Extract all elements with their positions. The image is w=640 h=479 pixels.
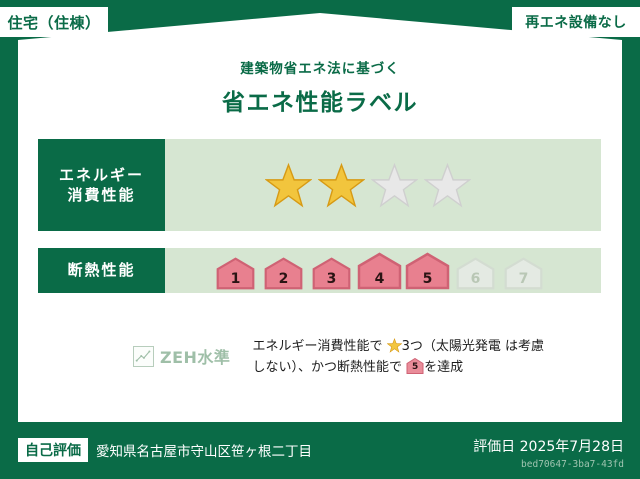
zeh-chart-icon	[133, 346, 154, 367]
insulation-grade-value: 5	[405, 271, 450, 287]
house-empty-icon: 6	[453, 257, 498, 290]
label-title-main: 省エネ性能ラベル	[0, 83, 640, 117]
row-insulation-performance: 断熱性能 1234567	[38, 248, 601, 293]
house-filled-icon: 1	[213, 257, 258, 290]
label-title: 建築物省エネ法に基づく 省エネ性能ラベル	[0, 57, 640, 117]
badge-building-type: 住宅（住棟）	[0, 7, 108, 37]
zeh-desc-line1-b: 3つ（太陽光発電	[402, 339, 501, 354]
row-energy-performance-value	[165, 139, 601, 231]
evaluation-date: 評価日 2025年7月28日	[473, 436, 624, 456]
badge-building-type-label: 住宅（住棟）	[7, 12, 100, 33]
zeh-mark: ZEH水準	[38, 336, 230, 368]
label-title-subtitle: 建築物省エネ法に基づく	[0, 57, 640, 77]
zeh-desc-line1-a: エネルギー消費性能で	[252, 339, 382, 354]
zeh-description: エネルギー消費性能で 3つ（太陽光発電 は考慮しない）、かつ断熱性能で 5 を達…	[252, 336, 552, 379]
footer-left: 自己評価 愛知県名古屋市守山区笹ヶ根二丁目	[18, 438, 312, 462]
zeh-note: ZEH水準 エネルギー消費性能で 3つ（太陽光発電 は考慮しない）、かつ断熱性能…	[38, 336, 601, 379]
insulation-grade-value: 6	[453, 271, 498, 287]
house-filled-icon: 3	[309, 257, 354, 290]
row-energy-performance: エネルギー 消費性能	[38, 139, 601, 231]
row-energy-label-line2: 消費性能	[67, 185, 135, 205]
star-empty-icon	[371, 162, 418, 209]
house-empty-icon: 7	[501, 257, 546, 290]
house-inline-value: 5	[406, 360, 424, 375]
row-energy-label-line1: エネルギー	[59, 165, 144, 185]
star-filled-icon	[318, 162, 365, 209]
star-empty-icon	[424, 162, 471, 209]
badge-renewable-energy: 再エネ設備なし	[512, 7, 640, 37]
self-evaluation-badge: 自己評価	[18, 438, 88, 462]
badge-renewable-energy-label: 再エネ設備なし	[525, 12, 627, 32]
house-filled-icon: 5	[405, 252, 450, 290]
star-filled-icon	[265, 162, 312, 209]
row-insulation-label-line1: 断熱性能	[67, 260, 135, 280]
insulation-grade-value: 3	[309, 271, 354, 287]
house-filled-icon: 4	[357, 252, 402, 290]
row-insulation-performance-label: 断熱性能	[38, 248, 165, 293]
star-rating	[165, 162, 471, 209]
house-filled-icon: 2	[261, 257, 306, 290]
energy-performance-label: 住宅（住棟） 再エネ設備なし 建築物省エネ法に基づく 省エネ性能ラベル エネルギ…	[0, 0, 640, 479]
insulation-grade-value: 1	[213, 271, 258, 287]
insulation-grade-value: 4	[357, 271, 402, 287]
row-insulation-performance-value: 1234567	[165, 248, 601, 293]
insulation-grade-value: 2	[261, 271, 306, 287]
label-identifier: bed70647-3ba7-43fd	[473, 459, 624, 470]
zeh-desc-line2-b: を達成	[424, 360, 463, 375]
zeh-mark-label: ZEH水準	[160, 344, 230, 368]
footer-right: 評価日 2025年7月28日 bed70647-3ba7-43fd	[473, 436, 624, 470]
insulation-grade-scale: 1234567	[165, 252, 546, 290]
property-address: 愛知県名古屋市守山区笹ヶ根二丁目	[96, 440, 312, 460]
row-energy-performance-label: エネルギー 消費性能	[38, 139, 165, 231]
insulation-grade-value: 7	[501, 271, 546, 287]
star-filled-icon-inline	[387, 338, 402, 353]
house-filled-icon-inline: 5	[406, 358, 424, 374]
